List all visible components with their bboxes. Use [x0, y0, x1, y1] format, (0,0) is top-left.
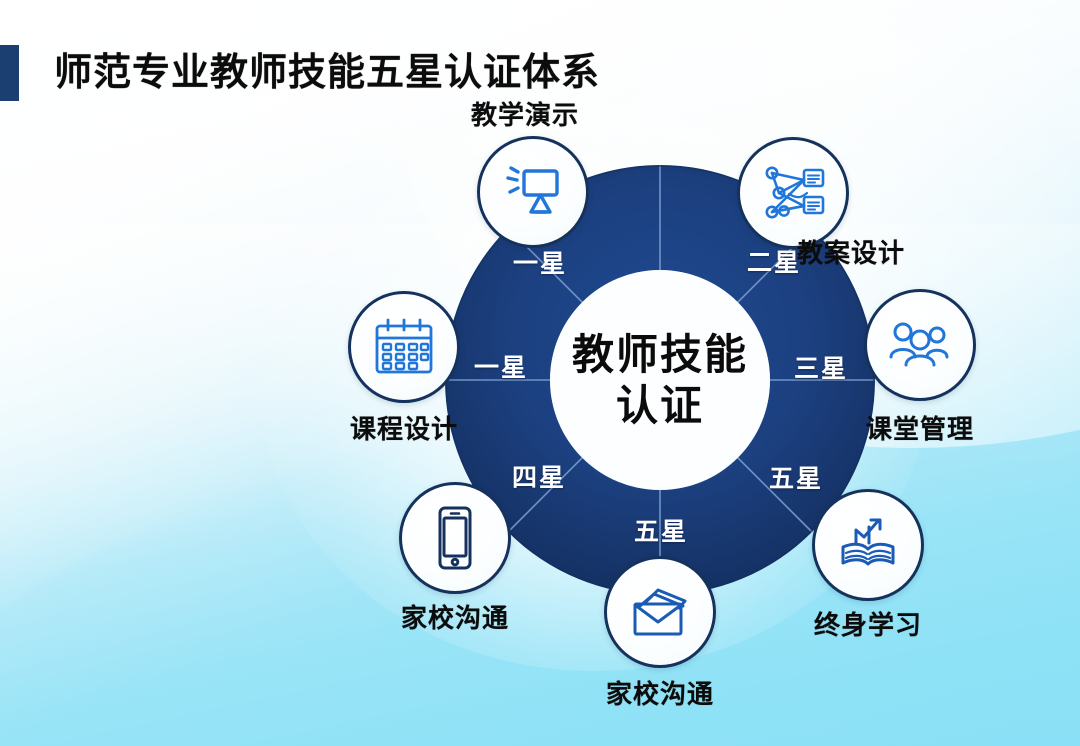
node-label-classroom-mgmt: 课堂管理 — [866, 409, 974, 446]
node-label-home-school-phone: 家校沟通 — [401, 598, 509, 635]
node-label-teaching-demo: 教学演示 — [471, 95, 579, 132]
node-label-home-school-mail: 家校沟通 — [606, 674, 714, 711]
node-classroom-mgmt[interactable]: 课堂管理 — [864, 289, 976, 401]
slide-canvas: 师范专业教师技能五星认证体系 — [0, 0, 1080, 746]
slide-header: 师范专业教师技能五星认证体系 — [0, 44, 600, 102]
wheel-center-line-2: 认证 — [616, 380, 704, 431]
projector-screen-icon — [477, 136, 589, 248]
node-home-school-phone[interactable]: 家校沟通 — [399, 482, 511, 594]
wheel-center-line-1: 教师技能 — [572, 329, 748, 380]
smartphone-icon — [399, 482, 511, 594]
envelope-icon — [604, 556, 716, 668]
people-group-icon — [864, 289, 976, 401]
wheel-center: 教师技能 认证 — [551, 271, 769, 489]
node-course-design[interactable]: 课程设计 — [348, 291, 460, 403]
node-lifelong-learning[interactable]: 终身学习 — [812, 489, 924, 601]
title-accent-bar — [0, 45, 19, 101]
page-title: 师范专业教师技能五星认证体系 — [54, 54, 600, 92]
node-label-lifelong-learning: 终身学习 — [814, 605, 922, 642]
book-growth-icon — [812, 489, 924, 601]
node-home-school-mail[interactable]: 家校沟通 — [604, 556, 716, 668]
node-label-lesson-design: 教案设计 — [797, 233, 905, 270]
node-label-course-design: 课程设计 — [350, 409, 458, 446]
node-lesson-design[interactable]: 教案设计 — [737, 137, 849, 249]
calendar-icon — [348, 291, 460, 403]
node-teaching-demo[interactable]: 教学演示 — [477, 136, 589, 248]
